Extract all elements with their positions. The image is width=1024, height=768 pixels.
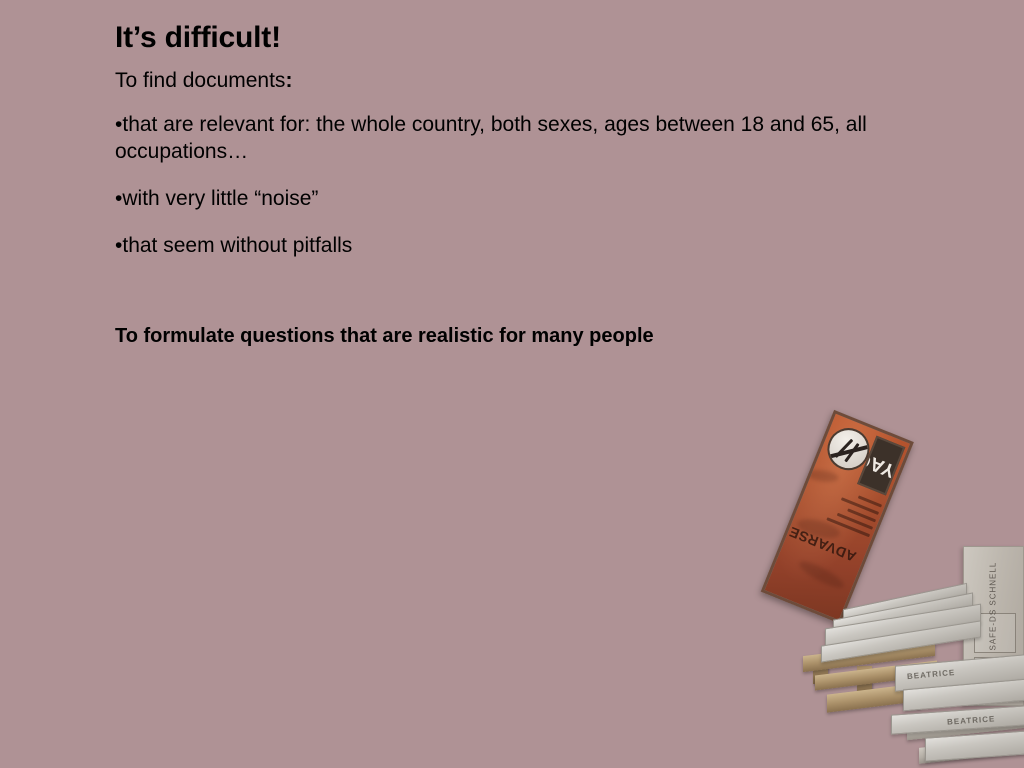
- slide-text-block: It’s difficult! To find documents: •that…: [115, 20, 925, 349]
- lead-paragraph: To find documents:: [115, 67, 925, 94]
- lead-text: To find documents: [115, 69, 285, 92]
- sign-scuff: [806, 468, 839, 483]
- list-item: •that seem without pitfalls: [115, 232, 925, 260]
- panel-vertical-text: SAFE-DS SCHNELL: [989, 546, 998, 651]
- slide-canvas: It’s difficult! To find documents: •that…: [0, 0, 1024, 768]
- closing-statement: To formulate questions that are realisti…: [115, 323, 925, 349]
- lead-colon: :: [285, 69, 292, 92]
- sign-scuff: [797, 558, 847, 593]
- list-item: •that are relevant for: the whole countr…: [115, 111, 915, 166]
- construction-photo: SAFE-DS SCHNELL LYAC ADVARSEL!: [795, 420, 1024, 768]
- page-title: It’s difficult!: [115, 20, 925, 55]
- list-item-label: that are relevant for: the whole country…: [115, 113, 867, 164]
- list-item-label: that seem without pitfalls: [122, 234, 352, 257]
- list-item: •with very little “noise”: [115, 185, 925, 213]
- list-item-label: with very little “noise”: [122, 187, 318, 210]
- warning-sign: LYAC ADVARSEL!: [761, 410, 914, 624]
